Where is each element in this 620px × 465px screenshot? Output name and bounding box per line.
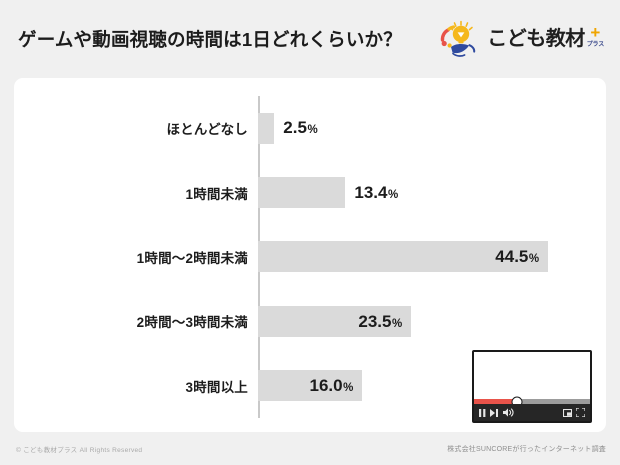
copyright-text: © こども教材プラス All Rights Reserved — [16, 444, 142, 454]
video-controls-bar — [474, 404, 590, 421]
video-player-illustration — [472, 350, 592, 423]
chart-value-number: 2.5 — [283, 119, 307, 136]
chart-bar: 23.5% — [258, 306, 411, 337]
chart-bar: 2.5% — [258, 113, 274, 144]
page-title: ゲームや動画視聴の時間は1日どれくらいか？ — [18, 26, 402, 52]
next-track-icon[interactable] — [490, 409, 499, 417]
chart-value-label: 2.5% — [283, 119, 317, 137]
chart-value-label: 44.5% — [495, 248, 539, 266]
pause-icon[interactable] — [479, 409, 486, 417]
video-screen — [474, 352, 590, 402]
chart-value-label: 13.4% — [354, 184, 398, 202]
volume-icon[interactable] — [503, 408, 514, 417]
chart-value-unit: % — [392, 319, 402, 331]
brand-logo-plus-group: + プラス — [587, 24, 604, 48]
chart-row: 1時間未満13.4% — [14, 160, 606, 224]
chart-value-unit: % — [529, 254, 539, 266]
chart-category-label: 2時間〜3時間未満 — [28, 311, 248, 331]
horizontal-bar-chart: ほとんどなし2.5%1時間未満13.4%1時間〜2時間未満44.5%2時間〜3時… — [14, 78, 606, 432]
chart-bar-area: 44.5% — [258, 225, 606, 289]
chart-row: ほとんどなし2.5% — [14, 96, 606, 160]
chart-bar: 16.0% — [258, 370, 362, 401]
chart-value-label: 23.5% — [358, 313, 402, 331]
brand-logo-word: こども教材 — [487, 29, 585, 49]
miniplayer-icon[interactable] — [563, 404, 572, 422]
chart-category-label: 1時間〜2時間未満 — [28, 247, 248, 267]
chart-bar-area: 23.5% — [258, 289, 606, 353]
chart-bar: 13.4% — [258, 177, 345, 208]
survey-source-text: 株式会社SUNCOREが行ったインターネット調査 — [447, 444, 606, 454]
chart-bar-area: 2.5% — [258, 96, 606, 160]
lightbulb-hand-icon — [439, 20, 481, 58]
chart-value-unit: % — [343, 383, 353, 395]
chart-value-number: 13.4 — [354, 184, 387, 201]
page-footer: © こども教材プラス All Rights Reserved 株式会社SUNCO… — [0, 432, 620, 465]
plus-icon: + — [590, 24, 600, 41]
chart-category-label: 3時間以上 — [28, 376, 248, 396]
chart-bar-area: 13.4% — [258, 160, 606, 224]
chart-row: 2時間〜3時間未満23.5% — [14, 289, 606, 353]
chart-value-label: 16.0% — [309, 377, 353, 395]
page-header: ゲームや動画視聴の時間は1日どれくらいか？ — [0, 0, 620, 78]
fullscreen-icon[interactable] — [576, 404, 585, 422]
chart-category-label: 1時間未満 — [28, 183, 248, 203]
chart-card: ほとんどなし2.5%1時間未満13.4%1時間〜2時間未満44.5%2時間〜3時… — [14, 78, 606, 432]
chart-value-unit: % — [388, 190, 398, 202]
chart-row: 1時間〜2時間未満44.5% — [14, 225, 606, 289]
brand-logo[interactable]: こども教材 + プラス — [439, 20, 604, 58]
chart-value-unit: % — [307, 125, 317, 137]
chart-category-label: ほとんどなし — [28, 118, 248, 138]
chart-value-number: 16.0 — [309, 377, 342, 394]
brand-logo-text: こども教材 + プラス — [487, 29, 604, 49]
chart-bar: 44.5% — [258, 241, 548, 272]
video-right-controls — [563, 404, 585, 422]
brand-logo-plus-label: プラス — [587, 42, 604, 48]
chart-value-number: 44.5 — [495, 248, 528, 265]
chart-value-number: 23.5 — [358, 313, 391, 330]
